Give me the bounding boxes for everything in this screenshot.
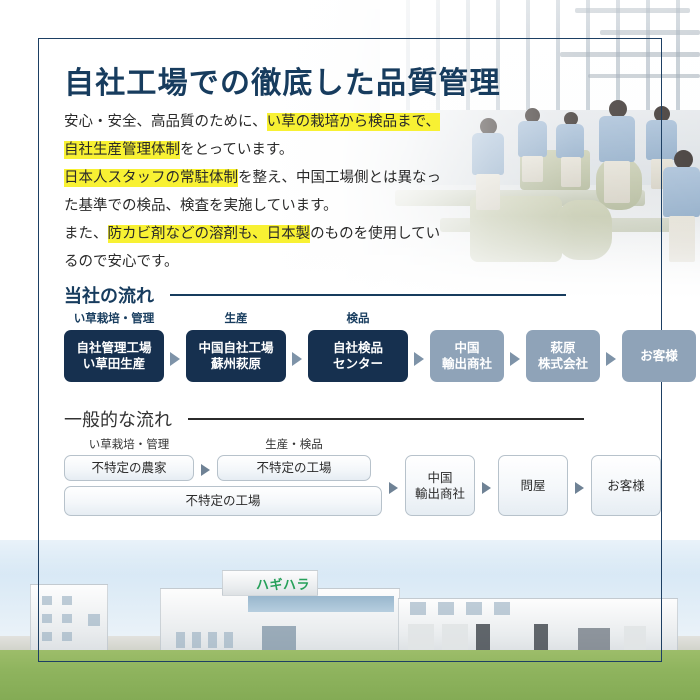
- plain-text: をとっています。: [180, 142, 293, 158]
- section-own-rule: [170, 294, 566, 296]
- flow-step: 中国輸出商社: [430, 310, 504, 382]
- flow-caption: 生産・検品: [265, 436, 323, 451]
- arrow-icon: [170, 352, 180, 366]
- highlighted-text: 防カビ剤などの溶剤も、日本製: [108, 225, 311, 243]
- plain-text: た基準での検品、検査を実施しています。: [64, 198, 338, 214]
- paragraph-line: 安心・安全、高品質のために、い草の栽培から検品まで、: [64, 108, 504, 136]
- flow-box-own-1: 自社管理工場い草田生産: [64, 330, 164, 382]
- flow-step: お客様: [622, 310, 696, 382]
- flow-box-own-6: お客様: [622, 330, 696, 382]
- section-general-heading: 一般的な流れ: [64, 406, 172, 432]
- arrow-icon: [389, 482, 398, 494]
- paragraph-line: また、防カビ剤などの溶剤も、日本製のものを使用してい: [64, 220, 504, 248]
- section-own-heading: 当社の流れ: [64, 282, 154, 308]
- paragraph-line: 日本人スタッフの常駐体制を整え、中国工場側とは異なっ: [64, 164, 504, 192]
- flow-box-gen-wide: 不特定の工場: [64, 486, 382, 516]
- flow-step: 検品 自社検品センター: [308, 310, 408, 382]
- arrow-icon: [510, 352, 520, 366]
- flow-box-own-4: 中国輸出商社: [430, 330, 504, 382]
- own-flow-row: い草栽培・管理 自社管理工場い草田生産 生産 中国自社工場蘇州萩原 検品 自社検…: [64, 310, 696, 382]
- plain-text: また、: [64, 226, 108, 242]
- flow-step: 萩原株式会社: [526, 310, 600, 382]
- general-flow-left-group: い草栽培・管理 不特定の農家 生産・検品 不特定の工場 不特定の工場: [64, 436, 382, 516]
- flow-step: 生産 中国自社工場蘇州萩原: [186, 310, 286, 382]
- flow-box-gen-5: お客様: [591, 455, 661, 516]
- flow-box-gen-3: 中国輸出商社: [405, 455, 475, 516]
- intro-paragraph: 安心・安全、高品質のために、い草の栽培から検品まで、自社生産管理体制をとっていま…: [64, 108, 504, 276]
- plain-text: のものを使用してい: [310, 226, 440, 242]
- flow-box-own-5: 萩原株式会社: [526, 330, 600, 382]
- arrow-icon: [201, 464, 210, 476]
- paragraph-line: た基準での検品、検査を実施しています。: [64, 192, 504, 220]
- flow-caption: 検品: [347, 310, 370, 325]
- flow-step: 生産・検品 不特定の工場: [217, 436, 371, 481]
- paragraph-line: るので安心です。: [64, 248, 504, 276]
- plain-text: 安心・安全、高品質のために、: [64, 114, 267, 130]
- section-general-rule: [188, 418, 584, 420]
- flow-box-own-3: 自社検品センター: [308, 330, 408, 382]
- general-flow-row: い草栽培・管理 不特定の農家 生産・検品 不特定の工場 不特定の工場 中国輸出商…: [64, 436, 661, 516]
- section-general-flow: 一般的な流れ: [64, 406, 584, 432]
- highlighted-text: 日本人スタッフの常駐体制: [64, 169, 238, 187]
- flow-box-gen-1: 不特定の農家: [64, 455, 194, 481]
- arrow-icon: [606, 352, 616, 366]
- plain-text: るので安心です。: [64, 254, 179, 270]
- section-own-flow: 当社の流れ: [64, 282, 566, 308]
- arrow-icon: [292, 352, 302, 366]
- page-title: 自社工場での徹底した品質管理: [64, 58, 501, 102]
- arrow-icon: [575, 482, 584, 494]
- flow-box-gen-4: 問屋: [498, 455, 568, 516]
- highlighted-text: 自社生産管理体制: [64, 141, 180, 159]
- arrow-icon: [482, 482, 491, 494]
- content-area: 自社工場での徹底した品質管理 安心・安全、高品質のために、い草の栽培から検品まで…: [38, 38, 662, 662]
- flow-caption: 生産: [225, 310, 248, 325]
- flow-box-gen-2: 不特定の工場: [217, 455, 371, 481]
- paragraph-line: 自社生産管理体制をとっています。: [64, 136, 504, 164]
- highlighted-text: い草の栽培から検品まで、: [267, 113, 440, 131]
- arrow-icon: [414, 352, 424, 366]
- flow-caption: い草栽培・管理: [74, 310, 155, 325]
- plain-text: を整え、中国工場側とは異なっ: [238, 170, 441, 186]
- flow-caption: い草栽培・管理: [89, 436, 170, 451]
- flow-step: い草栽培・管理 不特定の農家: [64, 436, 194, 481]
- infographic-page: ハギハラ 自社工場での徹底した品質管理 安心・安全、高品質のために、い草の栽培か…: [0, 0, 700, 700]
- flow-step: い草栽培・管理 自社管理工場い草田生産: [64, 310, 164, 382]
- flow-box-own-2: 中国自社工場蘇州萩原: [186, 330, 286, 382]
